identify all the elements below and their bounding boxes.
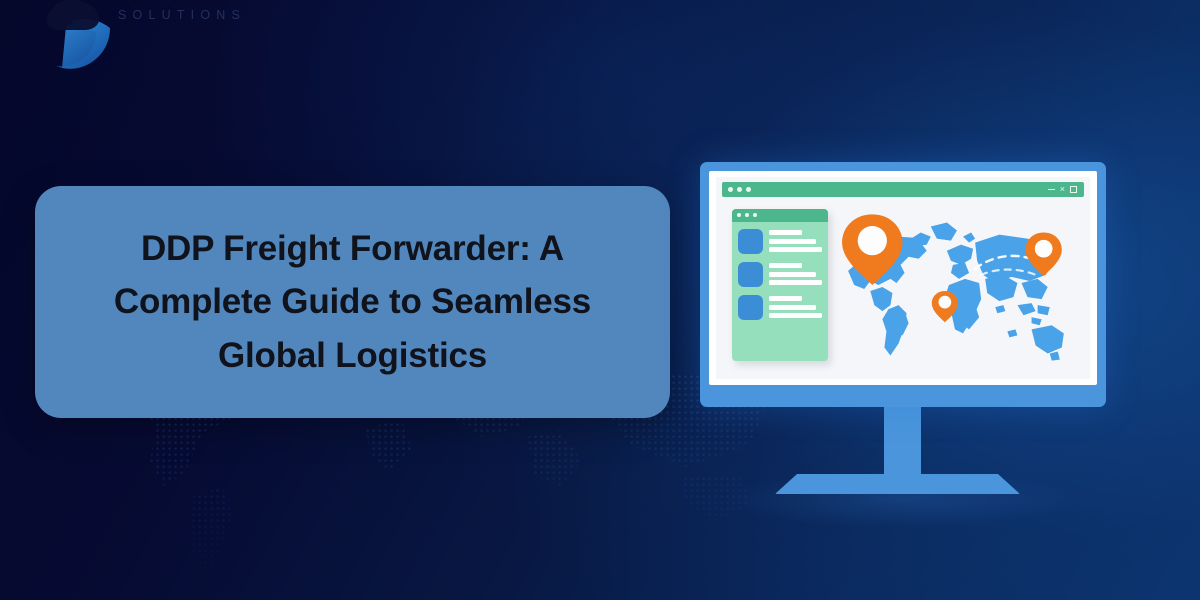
traffic-light-dot[interactable] bbox=[737, 187, 742, 192]
text-line bbox=[769, 272, 816, 277]
text-line bbox=[769, 296, 802, 301]
brand-logo-text: One Union SOLUTIONS bbox=[118, 0, 328, 22]
list-item[interactable] bbox=[738, 229, 822, 254]
maximize-icon[interactable] bbox=[1070, 186, 1077, 193]
traffic-light-dot[interactable] bbox=[745, 213, 749, 217]
world-map-panel bbox=[834, 203, 1086, 373]
monitor-stand-base bbox=[775, 474, 1020, 494]
promo-banner: One Union SOLUTIONS DDP Freight Forwarde… bbox=[0, 0, 1200, 600]
list-panel-titlebar bbox=[732, 209, 828, 222]
list-item-thumbnail bbox=[738, 229, 763, 254]
app-window-titlebar: × bbox=[722, 182, 1084, 197]
list-item[interactable] bbox=[738, 295, 822, 320]
text-line bbox=[769, 280, 822, 285]
text-line bbox=[769, 247, 822, 252]
text-line bbox=[769, 230, 802, 235]
close-icon[interactable]: × bbox=[1060, 185, 1065, 194]
list-item-text-lines bbox=[769, 229, 822, 252]
monitor-screen-frame: × bbox=[709, 171, 1097, 385]
traffic-light-dot[interactable] bbox=[737, 213, 741, 217]
window-controls: × bbox=[1048, 182, 1077, 197]
text-line bbox=[769, 313, 822, 318]
text-line bbox=[769, 305, 816, 310]
brand-tagline: SOLUTIONS bbox=[118, 9, 328, 22]
list-item-thumbnail bbox=[738, 295, 763, 320]
list-item-text-lines bbox=[769, 295, 822, 318]
headline-card: DDP Freight Forwarder: A Complete Guide … bbox=[35, 186, 670, 418]
one-union-globe-swoosh-logo-icon bbox=[22, 0, 118, 78]
shipment-list-panel bbox=[732, 209, 828, 361]
brand-logo[interactable]: One Union SOLUTIONS bbox=[22, 0, 322, 64]
list-rows bbox=[732, 222, 828, 320]
brand-name: One Union bbox=[118, 0, 328, 5]
traffic-light-dot[interactable] bbox=[753, 213, 757, 217]
minimize-icon[interactable] bbox=[1048, 189, 1055, 191]
traffic-lights bbox=[728, 187, 751, 192]
desktop-monitor-illustration: × bbox=[700, 162, 1106, 407]
monitor-screen: × bbox=[716, 177, 1090, 379]
page-title: DDP Freight Forwarder: A Complete Guide … bbox=[69, 222, 636, 382]
list-panel-traffic-lights bbox=[737, 213, 757, 217]
text-line bbox=[769, 263, 802, 268]
list-item[interactable] bbox=[738, 262, 822, 287]
traffic-light-dot[interactable] bbox=[728, 187, 733, 192]
list-item-text-lines bbox=[769, 262, 822, 285]
monitor-stand-neck bbox=[884, 404, 921, 480]
list-item-thumbnail bbox=[738, 262, 763, 287]
traffic-light-dot[interactable] bbox=[746, 187, 751, 192]
text-line bbox=[769, 239, 816, 244]
